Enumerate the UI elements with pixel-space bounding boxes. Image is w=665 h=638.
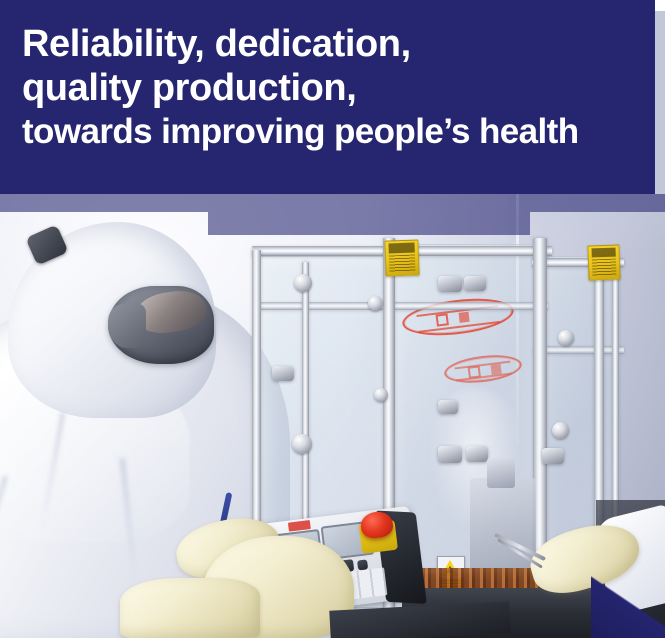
overlay-band-full	[0, 194, 665, 212]
right-edge-strip	[655, 11, 665, 194]
warning-label-header	[388, 243, 414, 253]
warning-label-text	[389, 254, 416, 273]
frame-clamp	[438, 446, 462, 463]
headline-line-3: towards improving people’s health	[22, 110, 641, 154]
panel-selector-knob[interactable]	[357, 559, 368, 570]
banner-headline: Reliability, dedication, quality product…	[22, 22, 641, 154]
warning-label-header	[592, 248, 616, 258]
headline-line-1: Reliability, dedication,	[22, 22, 641, 66]
frame-knob	[552, 422, 569, 439]
warning-label-text	[592, 259, 617, 277]
warning-label-icon	[587, 244, 620, 280]
frame-knob	[292, 434, 312, 454]
frame-knob	[368, 296, 383, 311]
gloved-forearm	[120, 578, 260, 638]
headline-line-2: quality production,	[22, 66, 641, 110]
frame-knob	[294, 274, 312, 292]
header-banner: Reliability, dedication, quality product…	[0, 0, 655, 194]
warning-label-icon	[384, 239, 419, 276]
frame-clamp	[466, 446, 488, 462]
frame-rail-right-mid	[534, 346, 624, 354]
frame-knob	[558, 330, 574, 346]
frame-clamp	[438, 276, 462, 292]
top-right-white-strip	[655, 0, 665, 11]
frame-clamp	[542, 448, 564, 464]
banner-page: Reliability, dedication, quality product…	[0, 0, 665, 638]
overlay-band-center	[208, 212, 530, 235]
respirator-mask	[108, 286, 214, 364]
frame-clamp	[272, 366, 294, 381]
filling-nozzle	[487, 458, 515, 488]
frame-clamp	[464, 276, 486, 291]
respirator-strap	[108, 304, 146, 348]
corner-accent-wedge	[591, 576, 665, 638]
frame-clamp	[438, 400, 458, 414]
frame-knob	[374, 388, 388, 402]
